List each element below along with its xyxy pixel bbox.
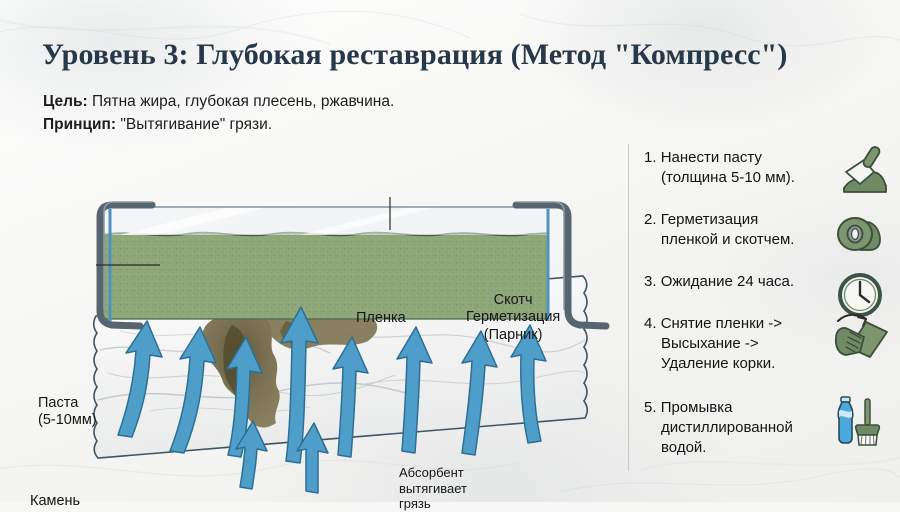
step-1-line1: Нанести пасту bbox=[661, 149, 762, 166]
principle-label: Принцип: bbox=[43, 116, 116, 133]
cross-section-diagram: Пленка Скотч Герметизация (Парник) Паста… bbox=[0, 135, 625, 495]
step-3-number: 3. bbox=[644, 273, 657, 290]
step-item-3: 3. Ожидание 24 часа. bbox=[644, 272, 894, 292]
step-item-5: 5. Промывка дистиллированной водой. bbox=[644, 398, 894, 457]
trowel-icon bbox=[830, 144, 892, 202]
step-4-line3: Удаление корки. bbox=[644, 354, 822, 374]
step-2-line2: пленкой и скотчем. bbox=[644, 230, 822, 250]
infographic-page: Уровень 3: Глубокая реставрация (Метод "… bbox=[0, 0, 900, 502]
step-4-line1: Снятие пленки -> bbox=[661, 315, 782, 332]
page-title: Уровень 3: Глубокая реставрация (Метод "… bbox=[42, 38, 862, 72]
step-3-line1: Ожидание 24 часа. bbox=[661, 273, 794, 290]
step-2-number: 2. bbox=[644, 211, 657, 228]
goal-line: Цель: Пятна жира, глубокая плесень, ржав… bbox=[43, 93, 394, 111]
step-3-text: 3. Ожидание 24 часа. bbox=[644, 272, 822, 292]
step-1-number: 1. bbox=[644, 149, 657, 166]
step-item-2: 2. Герметизация пленкой и скотчем. bbox=[644, 210, 894, 250]
tape-roll-icon bbox=[830, 206, 892, 264]
step-1-line2: (толщина 5-10 мм). bbox=[644, 168, 822, 188]
label-absorbent-line3: грязь bbox=[399, 496, 467, 512]
panel-divider bbox=[628, 144, 629, 471]
step-item-1: 1. Нанести пасту (толщина 5-10 мм). bbox=[644, 148, 894, 188]
principle-line: Принцип: "Вытягивание" грязи. bbox=[43, 116, 272, 134]
step-5-text: 5. Промывка дистиллированной водой. bbox=[644, 398, 822, 457]
step-2-text: 2. Герметизация пленкой и скотчем. bbox=[644, 210, 822, 250]
bottle-brush-icon bbox=[830, 394, 892, 452]
goal-label: Цель: bbox=[43, 93, 88, 110]
step-5-number: 5. bbox=[644, 399, 657, 416]
principle-text: "Вытягивание" грязи. bbox=[120, 116, 272, 133]
step-5-line3: водой. bbox=[644, 438, 822, 458]
step-4-text: 4. Снятие пленки -> Высыхание -> Удалени… bbox=[644, 314, 822, 373]
step-1-text: 1. Нанести пасту (толщина 5-10 мм). bbox=[644, 148, 822, 188]
step-2-line1: Герметизация bbox=[661, 211, 759, 228]
step-5-line2: дистиллированной bbox=[644, 418, 822, 438]
label-leader-lines bbox=[0, 135, 625, 495]
step-4-line2: Высыхание -> bbox=[644, 334, 822, 354]
step-4-number: 4. bbox=[644, 315, 657, 332]
goal-text: Пятна жира, глубокая плесень, ржавчина. bbox=[92, 93, 394, 110]
step-5-line1: Промывка bbox=[661, 399, 733, 416]
step-item-4: 4. Снятие пленки -> Высыхание -> Удалени… bbox=[644, 314, 894, 373]
peeling-hand-icon bbox=[830, 310, 892, 368]
